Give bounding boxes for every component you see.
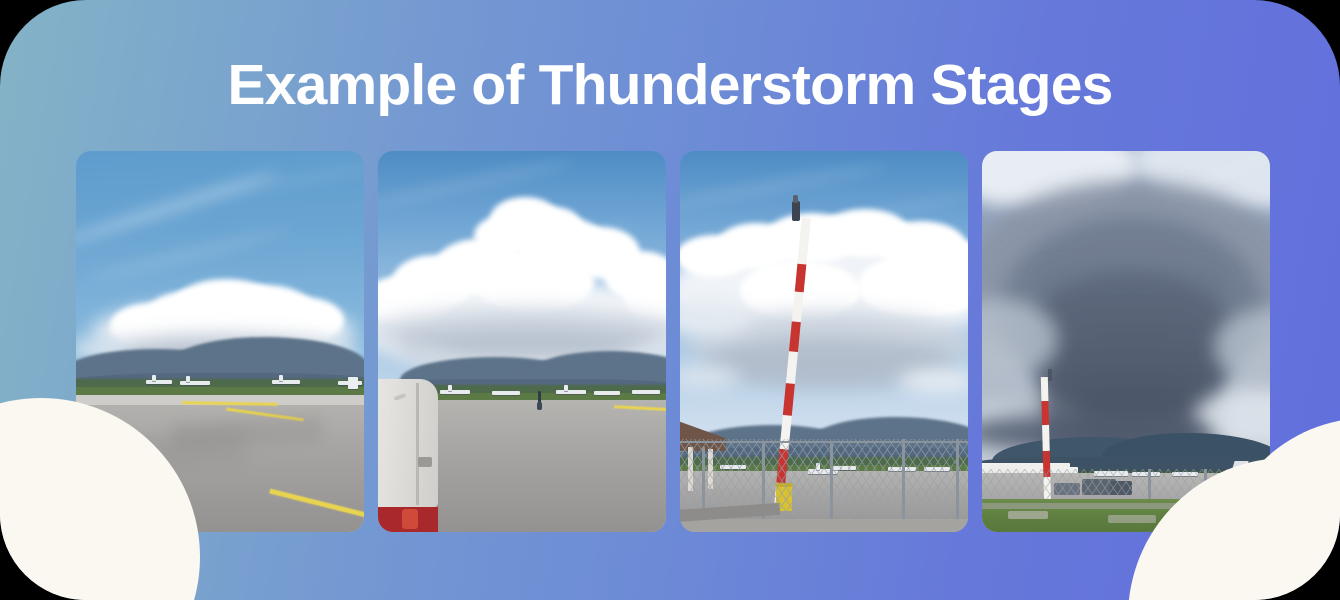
parked-aircraft [180,381,210,385]
parked-aircraft [146,380,172,384]
fence-post [902,439,905,531]
parked-aircraft [186,376,190,382]
parked-aircraft [594,391,620,395]
concrete-slab [1108,515,1156,523]
parked-aircraft [556,390,586,394]
page-title: Example of Thunderstorm Stages [0,50,1340,120]
pole-segment [1042,425,1050,451]
fence-post [956,439,959,531]
vehicle-seam [416,383,419,505]
cloud-turret [902,269,968,315]
pole-segment [1041,401,1049,425]
kerb [680,519,968,532]
service-vehicle [378,379,438,507]
parked-aircraft-tail [348,377,358,389]
pole-tip [1048,369,1052,381]
fence-post [830,441,833,531]
grass-verge [76,387,364,395]
cloud-fragment [898,369,968,393]
parked-aircraft [279,375,283,381]
parked-aircraft [152,375,156,381]
poster-card: Example of Thunderstorm Stages [0,0,1340,600]
parked-aircraft [564,385,568,391]
fence-post [762,443,765,531]
mast-antenna-tip [793,195,798,203]
photo-stage-3[interactable] [680,151,968,532]
vehicle-taillight [402,509,418,529]
mast-antenna-head [792,201,800,221]
parked-aircraft [632,390,660,394]
fence-top-rail [680,441,968,443]
concrete-slab [1008,511,1048,519]
thunderstorm-stage-photo-strip [76,151,1269,532]
parked-aircraft [272,380,300,384]
parked-aircraft [492,391,520,395]
parked-aircraft [440,390,470,394]
cloud-body [474,251,594,313]
photo-stage-2[interactable] [378,151,666,532]
vehicle-handle [418,457,432,467]
person-on-apron [537,402,542,410]
parked-aircraft [448,385,452,391]
